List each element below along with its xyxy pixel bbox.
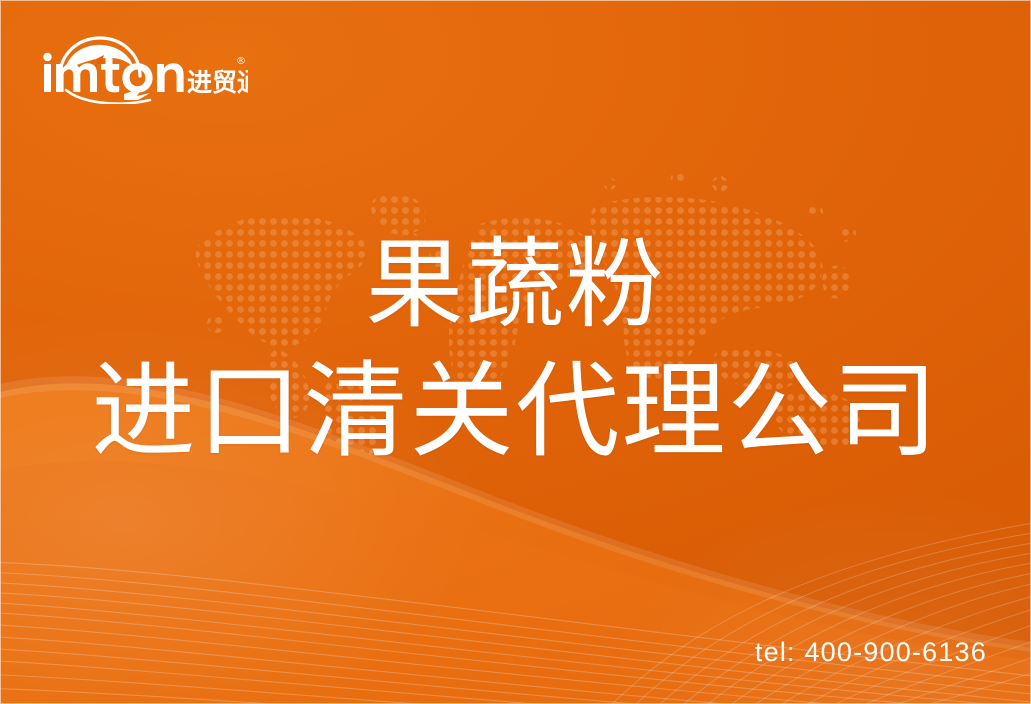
- contact-phone[interactable]: tel: 400-900-6136: [755, 637, 987, 668]
- registered-mark: ®: [236, 56, 246, 67]
- brand-logo[interactable]: 进贸通 ®: [38, 28, 248, 104]
- logo-chinese-text: 进贸通: [187, 68, 248, 97]
- headline-line-2: 进口清关代理公司: [0, 352, 1031, 472]
- headline-block: 果蔬粉 进口清关代理公司: [0, 228, 1031, 472]
- promo-banner: 进贸通 ® 果蔬粉 进口清关代理公司 tel: 400-900-6136: [0, 0, 1031, 704]
- headline-line-1: 果蔬粉: [0, 228, 1031, 340]
